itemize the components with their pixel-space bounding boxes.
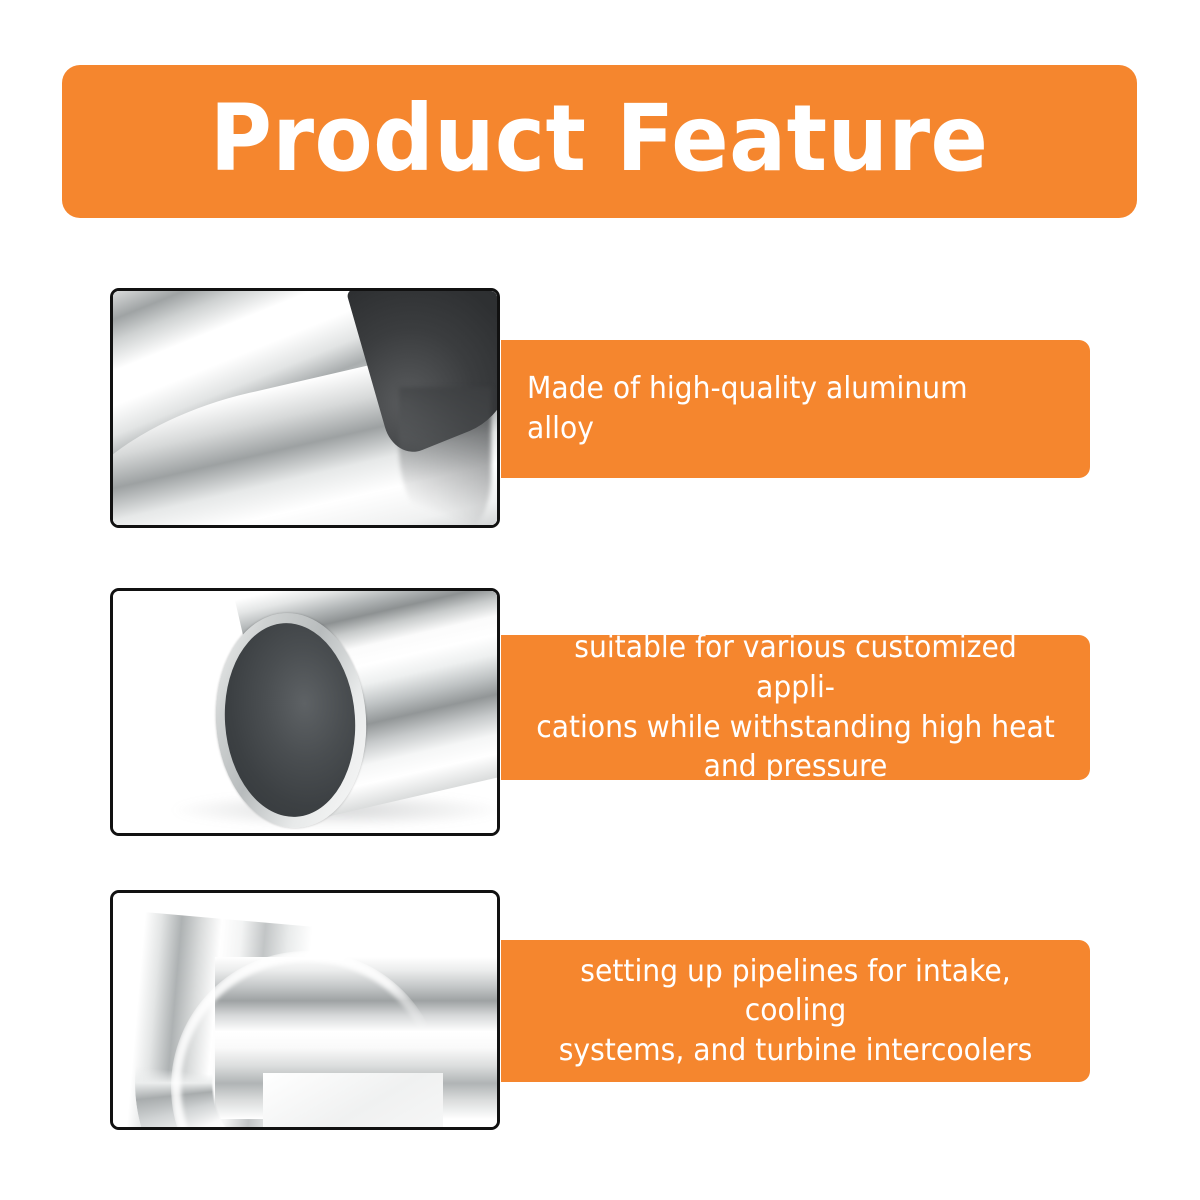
feature-row-2: suitable for various customized appli- c… [0,588,1200,836]
feature-row-3: setting up pipelines for intake, cooling… [0,890,1200,1130]
feature-text-3: setting up pipelines for intake, cooling… [536,952,1056,1071]
aluminum-tube-open-end-image [113,591,497,833]
page-title-banner: Product Feature [62,65,1137,218]
feature-text-band-2: suitable for various customized appli- c… [501,635,1090,780]
feature-photo-1 [110,288,500,528]
feature-row-1: Made of high-quality aluminum alloy [0,288,1200,528]
bent-aluminum-tube-closeup-image [113,291,497,525]
ninety-degree-aluminum-elbow-image [113,893,497,1127]
feature-photo-3 [110,890,500,1130]
tube-artwork [113,591,497,833]
elbow-artwork [113,893,497,1127]
feature-text-band-1: Made of high-quality aluminum alloy [501,340,1090,478]
infographic-page: Product Feature Made of high-quality alu… [0,0,1200,1200]
page-title: Product Feature [210,93,989,191]
feature-photo-2 [110,588,500,836]
feature-text-2: suitable for various customized appli- c… [536,628,1056,786]
tube-dark-shadow [399,387,491,525]
feature-text-1: Made of high-quality aluminum alloy [527,369,1032,448]
tube-artwork [113,291,497,525]
feature-text-band-3: setting up pipelines for intake, cooling… [501,940,1090,1082]
